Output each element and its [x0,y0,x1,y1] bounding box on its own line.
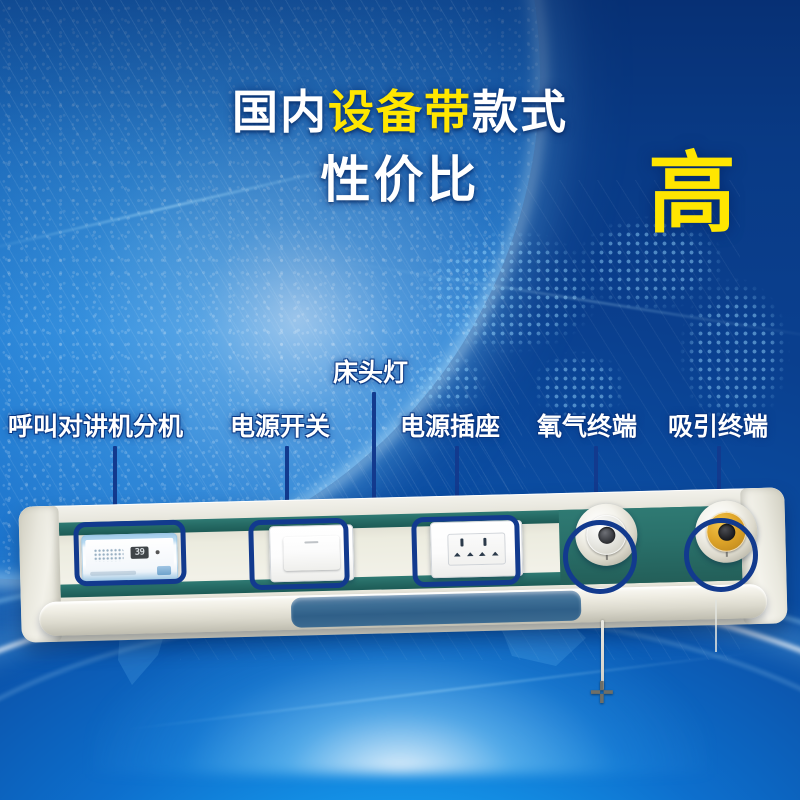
callout-label-bedlamp: 床头灯 [333,358,408,388]
headline-subline-text: 性价比 [321,151,480,209]
suction-terminal-ring [706,511,747,552]
medical-equipment-panel: 39 [18,487,787,642]
oxygen-terminal-tick [606,555,608,560]
suction-terminal-cord [715,600,717,652]
speaker-grille-icon [93,548,123,562]
callout-label-socket: 电源插座 [400,412,500,442]
suction-terminal-tick [726,552,728,557]
pull-cord-weight-icon[interactable]: ✛ [589,680,615,708]
socket-pin-left-top [460,538,463,546]
power-socket[interactable] [430,520,523,578]
callout-label-suction: 吸引终端 [668,412,768,442]
socket-pin-2 [467,552,474,556]
promo-banner: 国内设备带款式 性价比 高 呼叫对讲机分机 电源开关 床头灯 电源插座 氧气终端… [0,0,800,800]
power-switch[interactable] [269,524,354,582]
callout-label-oxygen: 氧气终端 [537,412,637,442]
status-led-icon [156,550,160,554]
headline-accent-word: 高 [648,148,736,240]
socket-pin-4 [492,552,499,556]
intercom-call-button[interactable] [157,566,171,575]
switch-rocker[interactable] [283,536,340,571]
oxygen-terminal-ring [586,514,627,555]
callout-label-switch: 电源开关 [230,412,330,442]
intercom-slot [90,571,136,576]
suction-port-icon [718,523,735,540]
oxygen-port-icon [598,526,615,543]
socket-pin-right-top [483,538,486,546]
intercom-unit[interactable]: 39 [81,533,178,583]
socket-face [447,532,506,565]
intercom-display: 39 [130,546,148,558]
socket-pin-3 [479,552,486,556]
switch-marking-icon [304,541,318,543]
callout-label-intercom: 呼叫对讲机分机 [8,412,183,442]
socket-pin-1 [454,553,461,557]
